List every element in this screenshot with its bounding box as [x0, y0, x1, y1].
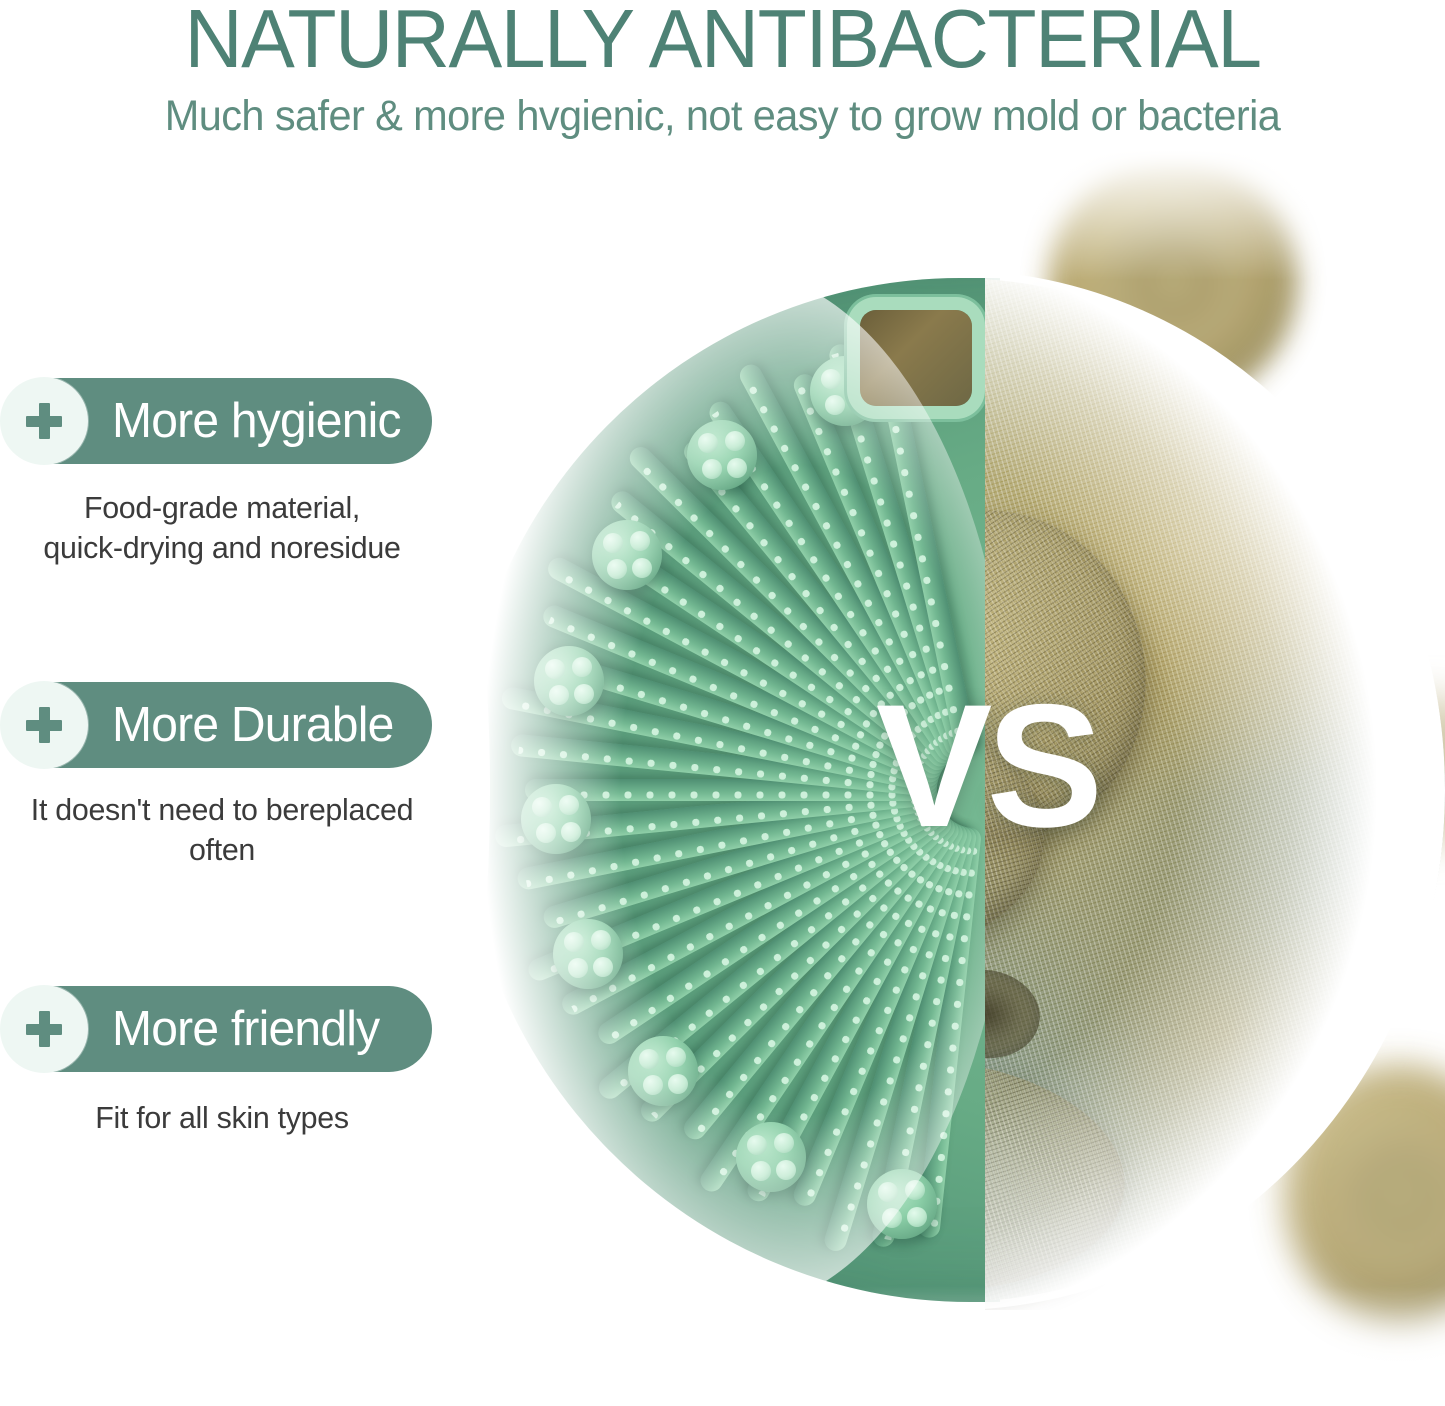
- hanging-hole: [860, 310, 972, 406]
- suction-knob: [553, 919, 623, 989]
- feature-pill: More hygienic: [8, 378, 432, 464]
- page-title: NATURALLY ANTIBACTERIAL: [22, 0, 1424, 82]
- dirty-loofah-half: [985, 270, 1445, 1310]
- comparison-image: VS: [440, 150, 1445, 1406]
- feature-pill: More Durable: [8, 682, 432, 768]
- feature-caption: Food-grade material, quick-drying and no…: [4, 488, 439, 568]
- headline-block: NATURALLY ANTIBACTERIAL Much safer & mor…: [0, 0, 1445, 150]
- feature-item-more-friendly: More friendly Fit for all skin types: [0, 986, 470, 1138]
- suction-knob: [687, 420, 757, 490]
- product-infographic: { "headline": { "title": "NATURALLY ANTI…: [0, 0, 1445, 1406]
- suction-knob: [592, 520, 662, 590]
- plus-icon: [24, 1009, 64, 1049]
- feature-label: More friendly: [112, 1003, 379, 1055]
- feature-pill: More friendly: [8, 986, 432, 1072]
- feature-item-more-hygienic: More hygienic Food-grade material, quick…: [0, 378, 470, 568]
- suction-knob: [867, 1169, 937, 1239]
- suction-knob: [628, 1036, 698, 1106]
- plus-badge: [0, 681, 88, 769]
- plus-icon: [24, 705, 64, 745]
- feature-label: More Durable: [112, 699, 394, 751]
- scrubber-left-mask: [460, 270, 490, 1310]
- plus-badge: [0, 985, 88, 1073]
- split-product-circle: [460, 270, 1445, 1310]
- feature-label: More hygienic: [112, 395, 401, 447]
- feature-caption: It doesn't need to bereplaced often: [4, 790, 439, 870]
- plus-icon: [24, 401, 64, 441]
- plus-badge: [0, 377, 88, 465]
- page-subtitle: Much safer & more hvgienic, not easy to …: [25, 93, 1419, 139]
- silicone-scrubber-half: [460, 270, 1000, 1310]
- feature-caption: Fit for all skin types: [4, 1098, 439, 1138]
- feature-item-more-durable: More Durable It doesn't need to bereplac…: [0, 682, 470, 870]
- suction-knob: [521, 784, 591, 854]
